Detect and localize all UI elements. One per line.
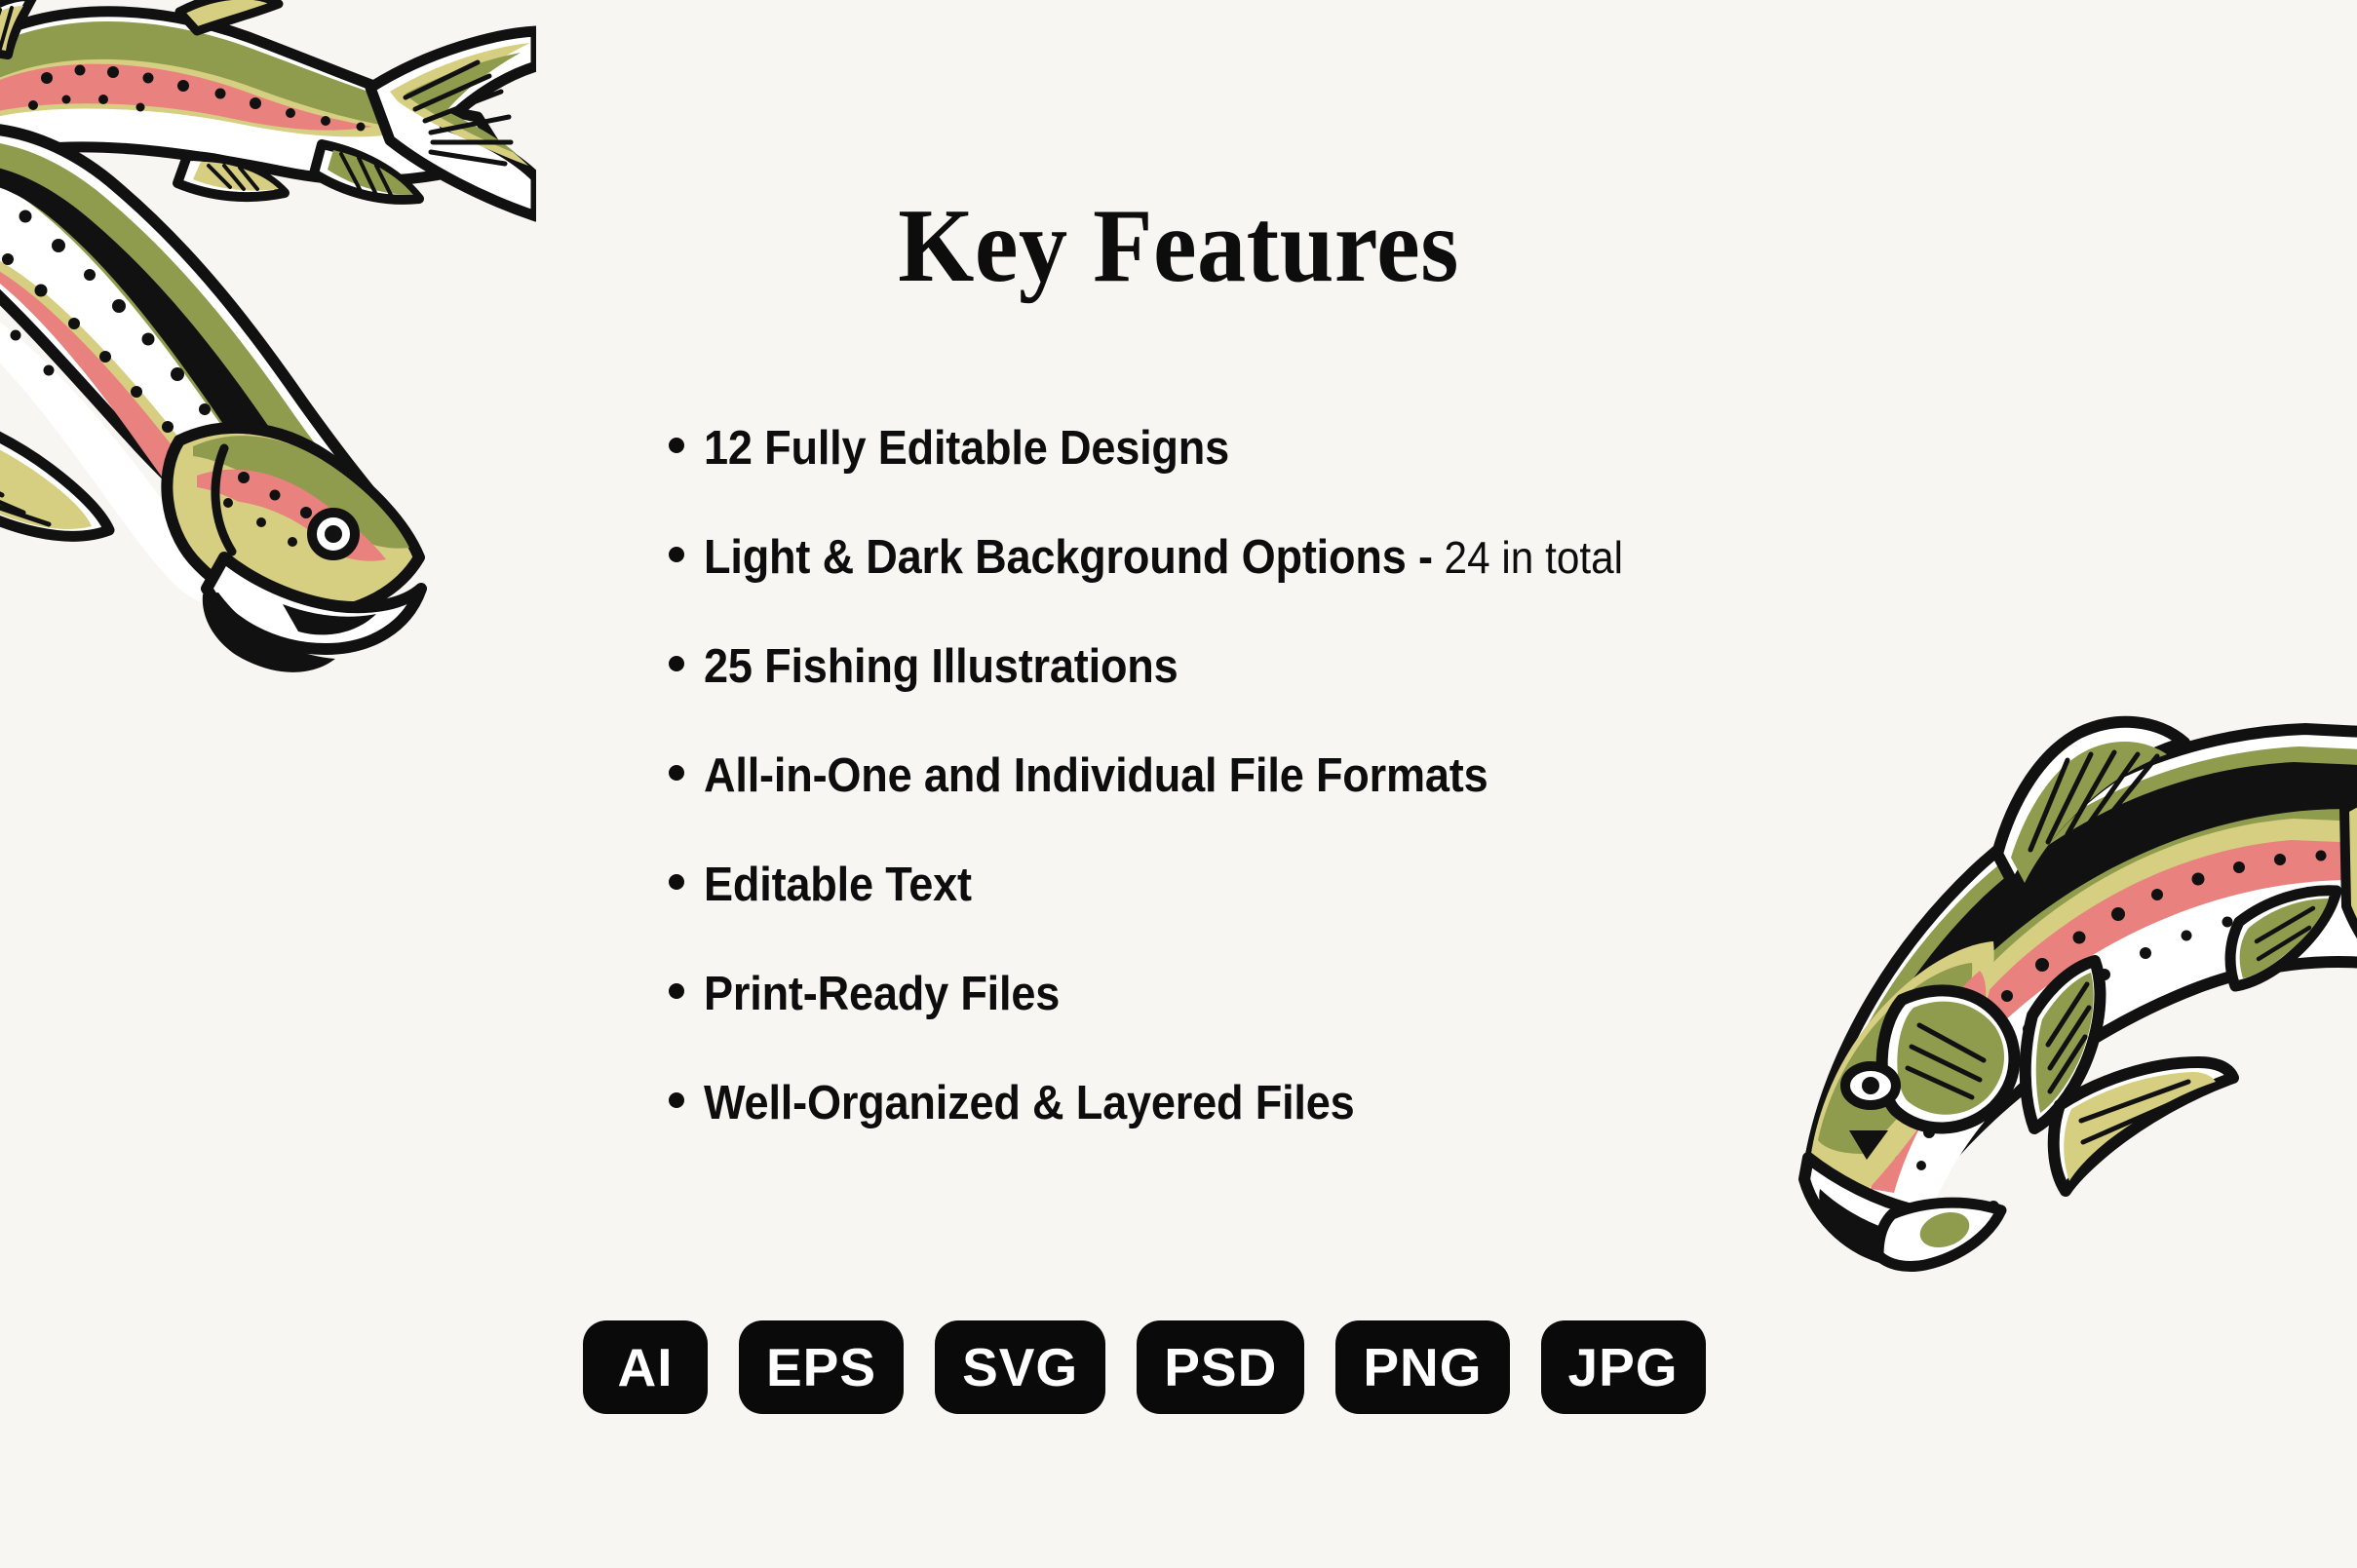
feature-label: 12 Fully Editable Designs (704, 425, 1229, 473)
list-item: Print-Ready Files (669, 971, 1936, 1080)
format-badge-png: PNG (1335, 1320, 1509, 1414)
bullet-icon (669, 983, 684, 999)
bullet-icon (669, 438, 684, 453)
bullet-icon (669, 765, 684, 781)
key-features-list: 12 Fully Editable Designs Light & Dark B… (669, 425, 1936, 1189)
feature-label: All-in-One and Individual File Formats (704, 752, 1488, 800)
page-title: Key Features (83, 191, 2275, 301)
feature-label: Well-Organized & Layered Files (704, 1080, 1355, 1128)
list-item: 12 Fully Editable Designs (669, 425, 1936, 534)
feature-label: Light & Dark Background Options - 24 in … (704, 534, 1623, 582)
format-badge-eps: EPS (739, 1320, 904, 1414)
feature-label: 25 Fishing Illustrations (704, 643, 1178, 691)
bullet-icon (669, 1092, 684, 1108)
bullet-icon (669, 874, 684, 890)
bullet-icon (669, 656, 684, 671)
list-item: 25 Fishing Illustrations (669, 643, 1936, 752)
list-item: Well-Organized & Layered Files (669, 1080, 1936, 1189)
list-item: Light & Dark Background Options - 24 in … (669, 534, 1936, 643)
format-badge-svg: SVG (935, 1320, 1105, 1414)
feature-label: Editable Text (704, 861, 972, 909)
feature-label: Print-Ready Files (704, 971, 1060, 1018)
format-badge-psd: PSD (1137, 1320, 1304, 1414)
list-item: Editable Text (669, 861, 1936, 971)
bullet-icon (669, 547, 684, 562)
format-badge-ai: AI (583, 1320, 708, 1414)
format-badge-jpg: JPG (1541, 1320, 1706, 1414)
rainbow-trout-top-left-illustration (0, 0, 536, 770)
key-features-page: Key Features 12 Fully Editable Designs L… (0, 0, 2357, 1568)
list-item: All-in-One and Individual File Formats (669, 752, 1936, 861)
feature-sublabel: 24 in total (1433, 532, 1623, 583)
file-format-badges: AI EPS SVG PSD PNG JPG (583, 1320, 1706, 1414)
